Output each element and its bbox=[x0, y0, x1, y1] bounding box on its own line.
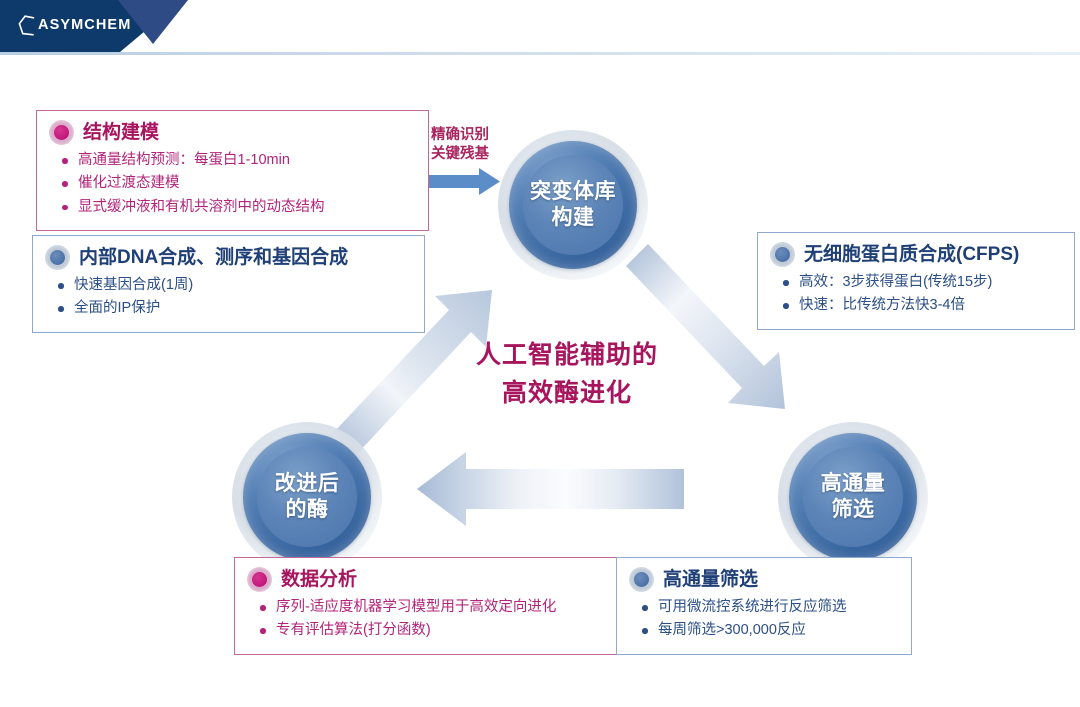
node-label-line1: 高通量 bbox=[821, 471, 886, 497]
box-title: 结构建模 bbox=[83, 122, 159, 144]
list-item: 显式缓冲液和有机共溶剂中的动态结构 bbox=[49, 196, 414, 219]
box-title: 高通量筛选 bbox=[663, 569, 758, 591]
list-item: 每周筛选>300,000反应 bbox=[629, 619, 897, 642]
bullet-circle-blue-icon bbox=[629, 567, 654, 592]
node-label-line1: 改进后 bbox=[275, 471, 340, 497]
list-item: 专有评估算法(打分函数) bbox=[247, 619, 622, 642]
box-header: 数据分析 bbox=[247, 567, 622, 592]
list-item: 快速基因合成(1周) bbox=[45, 274, 410, 297]
bullet-circle-blue-icon bbox=[770, 242, 795, 267]
box-title: 无细胞蛋白质合成(CFPS) bbox=[804, 244, 1019, 266]
logo-wordmark: ASYMCHEM bbox=[38, 18, 131, 33]
header: ASYMCHEM bbox=[0, 0, 1080, 58]
list-item: 高效：3步获得蛋白(传统15步) bbox=[770, 271, 1060, 294]
node-high-throughput-screening[interactable]: 高通量 筛选 bbox=[778, 422, 928, 572]
node-label-line2: 筛选 bbox=[832, 497, 875, 523]
bullet-circle-blue-icon bbox=[45, 245, 70, 270]
bullet-circle-pink-icon bbox=[247, 567, 272, 592]
info-box-structure-modeling[interactable]: 结构建模 高通量结构预测：每蛋白1-10min 催化过渡态建模 显式缓冲液和有机… bbox=[36, 110, 429, 231]
center-title-line1: 人工智能辅助的 bbox=[432, 337, 702, 375]
node-label-line2: 构建 bbox=[552, 205, 595, 231]
node-label-line1: 突变体库 bbox=[530, 179, 616, 205]
node-label: 高通量 筛选 bbox=[778, 422, 928, 572]
info-box-cell-free-protein-synthesis[interactable]: 无细胞蛋白质合成(CFPS) 高效：3步获得蛋白(传统15步) 快速：比传统方法… bbox=[757, 232, 1075, 330]
info-box-high-throughput-screening[interactable]: 高通量筛选 可用微流控系统进行反应筛选 每周筛选>300,000反应 bbox=[616, 557, 912, 655]
node-label: 改进后 的酶 bbox=[232, 422, 382, 572]
box-bullet-list: 可用微流控系统进行反应筛选 每周筛选>300,000反应 bbox=[629, 596, 897, 643]
list-item: 序列-适应度机器学习模型用于高效定向进化 bbox=[247, 596, 622, 619]
list-item: 催化过渡态建模 bbox=[49, 172, 414, 195]
list-item: 快速：比传统方法快3-4倍 bbox=[770, 294, 1060, 317]
box-bullet-list: 高效：3步获得蛋白(传统15步) 快速：比传统方法快3-4倍 bbox=[770, 271, 1060, 318]
list-item: 可用微流控系统进行反应筛选 bbox=[629, 596, 897, 619]
arrow-horizontal-left bbox=[417, 452, 684, 526]
box-bullet-list: 快速基因合成(1周) 全面的IP保护 bbox=[45, 274, 410, 321]
node-label: 突变体库 构建 bbox=[498, 130, 648, 280]
list-item: 高通量结构预测：每蛋白1-10min bbox=[49, 149, 414, 172]
header-divider-line bbox=[0, 52, 1080, 55]
box-bullet-list: 序列-适应度机器学习模型用于高效定向进化 专有评估算法(打分函数) bbox=[247, 596, 622, 643]
node-label-line2: 的酶 bbox=[286, 497, 329, 523]
box-header: 高通量筛选 bbox=[629, 567, 897, 592]
center-title: 人工智能辅助的 高效酶进化 bbox=[432, 337, 702, 412]
slide-canvas: ASYMCHEM bbox=[0, 0, 1080, 707]
box-header: 结构建模 bbox=[49, 120, 414, 145]
box-bullet-list: 高通量结构预测：每蛋白1-10min 催化过渡态建模 显式缓冲液和有机共溶剂中的… bbox=[49, 149, 414, 219]
box-title: 内部DNA合成、测序和基因合成 bbox=[79, 247, 348, 269]
box-title: 数据分析 bbox=[281, 569, 357, 591]
box-header: 无细胞蛋白质合成(CFPS) bbox=[770, 242, 1060, 267]
box-header: 内部DNA合成、测序和基因合成 bbox=[45, 245, 410, 270]
info-box-data-analysis[interactable]: 数据分析 序列-适应度机器学习模型用于高效定向进化 专有评估算法(打分函数) bbox=[234, 557, 637, 655]
brand-logo: ASYMCHEM bbox=[18, 15, 131, 36]
list-item: 全面的IP保护 bbox=[45, 297, 410, 320]
info-box-dna-synthesis[interactable]: 内部DNA合成、测序和基因合成 快速基因合成(1周) 全面的IP保护 bbox=[32, 235, 425, 333]
node-improved-enzyme[interactable]: 改进后 的酶 bbox=[232, 422, 382, 572]
bullet-circle-pink-icon bbox=[49, 120, 74, 145]
center-title-line2: 高效酶进化 bbox=[432, 375, 702, 413]
hexagon-c-logo-icon bbox=[18, 15, 37, 36]
node-mutant-library[interactable]: 突变体库 构建 bbox=[498, 130, 648, 280]
